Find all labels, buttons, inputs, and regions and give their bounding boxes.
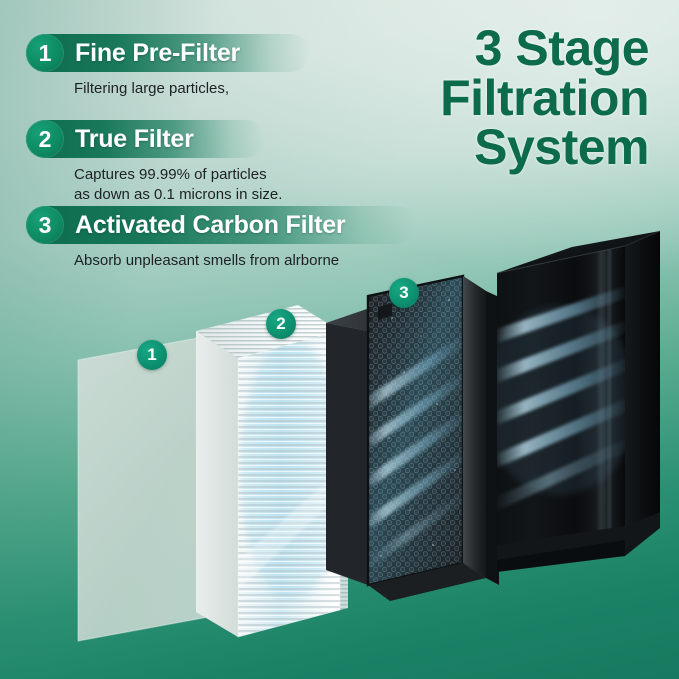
hepa-filter-panel [196,300,348,650]
stage-badge-1: 1 [137,340,167,370]
stage-badge-2: 2 [266,309,296,339]
feature-1-description: Filtering large particles, [74,79,310,99]
feature-2-description-line-1: Captures 99.99% of particles [74,165,282,185]
feature-1-heading-pill: 1 Fine Pre-Filter [26,34,310,72]
feature-item-1: 1 Fine Pre-Filter Filtering large partic… [26,34,310,99]
title-line-2: Filtration [359,74,649,124]
page-title: 3 Stage Filtration System [359,24,649,173]
feature-2-description: Captures 99.99% of particles as down as … [74,165,282,205]
feature-3-title: Activated Carbon Filter [75,211,345,240]
feature-3-description: Absorb unpleasant smells from alrborne [74,251,414,271]
feature-2-title: True Filter [75,125,194,154]
infographic-canvas: 1 2 3 3 Stage Filtration System 1 Fine P… [0,0,679,679]
feature-3-heading-pill: 3 Activated Carbon Filter [26,206,415,244]
stage-badge-3: 3 [389,278,419,308]
feature-1-description-line-1: Filtering large particles, [74,79,310,99]
pre-filter-panel [78,333,225,641]
feature-2-description-line-2: as down as 0.1 microns in size. [74,185,282,205]
feature-3-description-line-1: Absorb unpleasant smells from alrborne [74,251,414,271]
feature-2-heading-pill: 2 True Filter [26,120,264,158]
feature-1-title: Fine Pre-Filter [75,39,240,68]
air-purifier-unit [482,231,660,572]
feature-3-number: 3 [26,206,64,244]
title-line-3: System [359,123,649,173]
feature-1-number: 1 [26,34,64,72]
title-line-1: 3 Stage [359,24,649,74]
feature-2-number: 2 [26,120,64,158]
feature-item-3: 3 Activated Carbon Filter Absorb unpleas… [26,206,415,271]
carbon-filter-panel [326,270,499,601]
feature-item-2: 2 True Filter Captures 99.99% of particl… [26,120,282,205]
